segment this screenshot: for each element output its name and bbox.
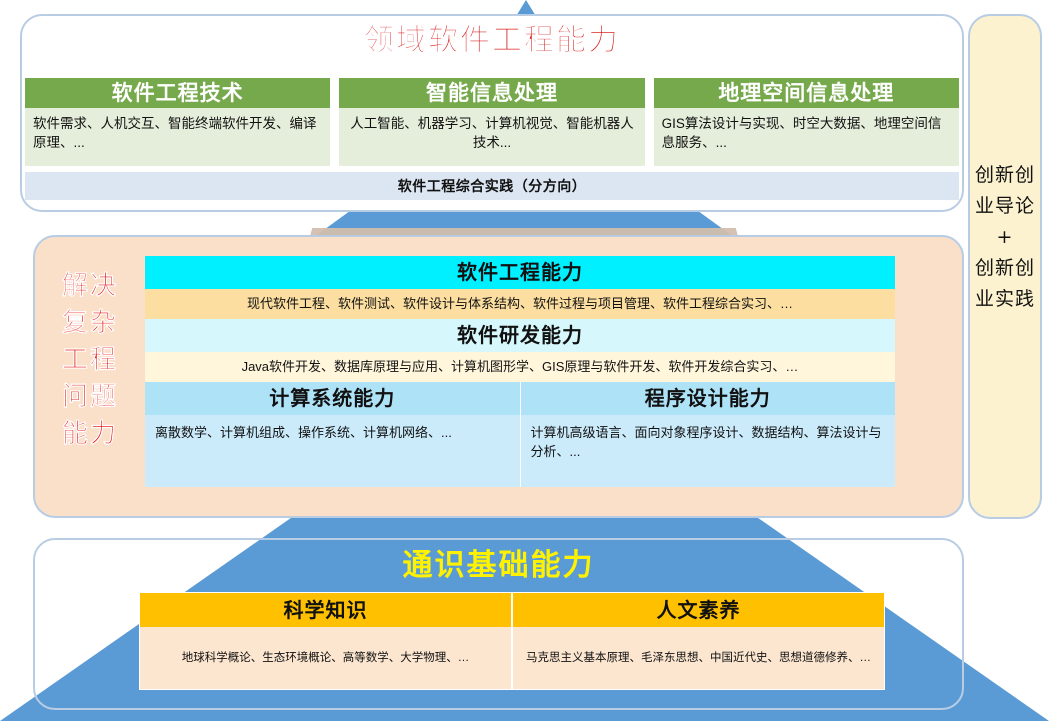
- column-header: 软件工程技术: [25, 78, 330, 108]
- sidebar-line: +: [968, 222, 1042, 253]
- table-header-humanities: 人文素养: [511, 593, 884, 627]
- sidebar-line: 业实践: [968, 284, 1042, 315]
- side-label-line: 解决: [47, 268, 133, 305]
- diagram-canvas: 领域软件工程能力 软件工程技术 软件需求、人机交互、智能终端软件开发、编译原理、…: [0, 0, 1049, 721]
- general-education-table: 科学知识 人文素养 地球科学概论、生态环境概论、高等数学、大学物理、… 马克思主…: [139, 592, 885, 690]
- side-label-line: 工程: [47, 342, 133, 379]
- capability-two-column-row: 计算系统能力 离散数学、计算机组成、操作系统、计算机网络、... 程序设计能力 …: [145, 382, 895, 487]
- domain-columns: 软件工程技术 软件需求、人机交互、智能终端软件开发、编译原理、... 智能信息处…: [25, 78, 959, 166]
- sidebar-line: 创新创: [968, 253, 1042, 284]
- column-header: 地理空间信息处理: [654, 78, 959, 108]
- table-row: 地球科学概论、生态环境概论、高等数学、大学物理、… 马克思主义基本原理、毛泽东思…: [140, 627, 884, 689]
- sidebar-line: 创新创: [968, 160, 1042, 191]
- capability-column-title: 程序设计能力: [521, 382, 896, 415]
- capability-column-computing-systems[interactable]: 计算系统能力 离散数学、计算机组成、操作系统、计算机网络、...: [145, 382, 520, 487]
- side-label-line: 复杂: [47, 305, 133, 342]
- innovation-entrepreneurship-label: 创新创 业导论 + 创新创 业实践: [968, 160, 1042, 315]
- column-header: 智能信息处理: [339, 78, 644, 108]
- side-label-line: 能力: [47, 416, 133, 453]
- capability-stack: 软件工程能力 现代软件工程、软件测试、软件设计与体系结构、软件过程与项目管理、软…: [145, 256, 895, 487]
- side-label-line: 问题: [47, 379, 133, 416]
- table-header-science: 科学知识: [140, 593, 511, 627]
- table-cell-humanities-courses: 马克思主义基本原理、毛泽东思想、中国近代史、思想道德修养、…: [511, 627, 884, 689]
- general-education-title: 通识基础能力: [33, 546, 964, 586]
- capability-row-title-software-engineering[interactable]: 软件工程能力: [145, 256, 895, 289]
- capability-row-title-software-rd[interactable]: 软件研发能力: [145, 319, 895, 352]
- comprehensive-practice-bar: 软件工程综合实践（分方向）: [25, 172, 959, 200]
- capability-row-courses-software-rd: Java软件开发、数据库原理与应用、计算机图形学、GIS原理与软件开发、软件开发…: [145, 352, 895, 382]
- domain-column-geospatial-information[interactable]: 地理空间信息处理 GIS算法设计与实现、时空大数据、地理空间信息服务、...: [654, 78, 959, 166]
- capability-column-programming[interactable]: 程序设计能力 计算机高级语言、面向对象程序设计、数据结构、算法设计与分析、...: [520, 382, 896, 487]
- column-body: 人工智能、机器学习、计算机视觉、智能机器人技术...: [339, 108, 644, 166]
- table-cell-science-courses: 地球科学概论、生态环境概论、高等数学、大学物理、…: [140, 627, 511, 689]
- domain-column-intelligent-information[interactable]: 智能信息处理 人工智能、机器学习、计算机视觉、智能机器人技术...: [339, 78, 644, 166]
- table-header-row: 科学知识 人文素养: [140, 593, 884, 627]
- capability-column-title: 计算系统能力: [145, 382, 520, 415]
- complex-engineering-label: 解决复杂工程问题能力: [47, 268, 133, 453]
- column-body: GIS算法设计与实现、时空大数据、地理空间信息服务、...: [654, 108, 959, 166]
- capability-column-courses: 离散数学、计算机组成、操作系统、计算机网络、...: [145, 415, 520, 487]
- domain-column-software-engineering[interactable]: 软件工程技术 软件需求、人机交互、智能终端软件开发、编译原理、...: [25, 78, 330, 166]
- capability-column-courses: 计算机高级语言、面向对象程序设计、数据结构、算法设计与分析、...: [521, 415, 896, 487]
- capability-row-courses-software-engineering: 现代软件工程、软件测试、软件设计与体系结构、软件过程与项目管理、软件工程综合实习…: [145, 289, 895, 319]
- column-body: 软件需求、人机交互、智能终端软件开发、编译原理、...: [25, 108, 330, 166]
- page-title: 领域软件工程能力: [20, 22, 964, 60]
- sidebar-line: 业导论: [968, 191, 1042, 222]
